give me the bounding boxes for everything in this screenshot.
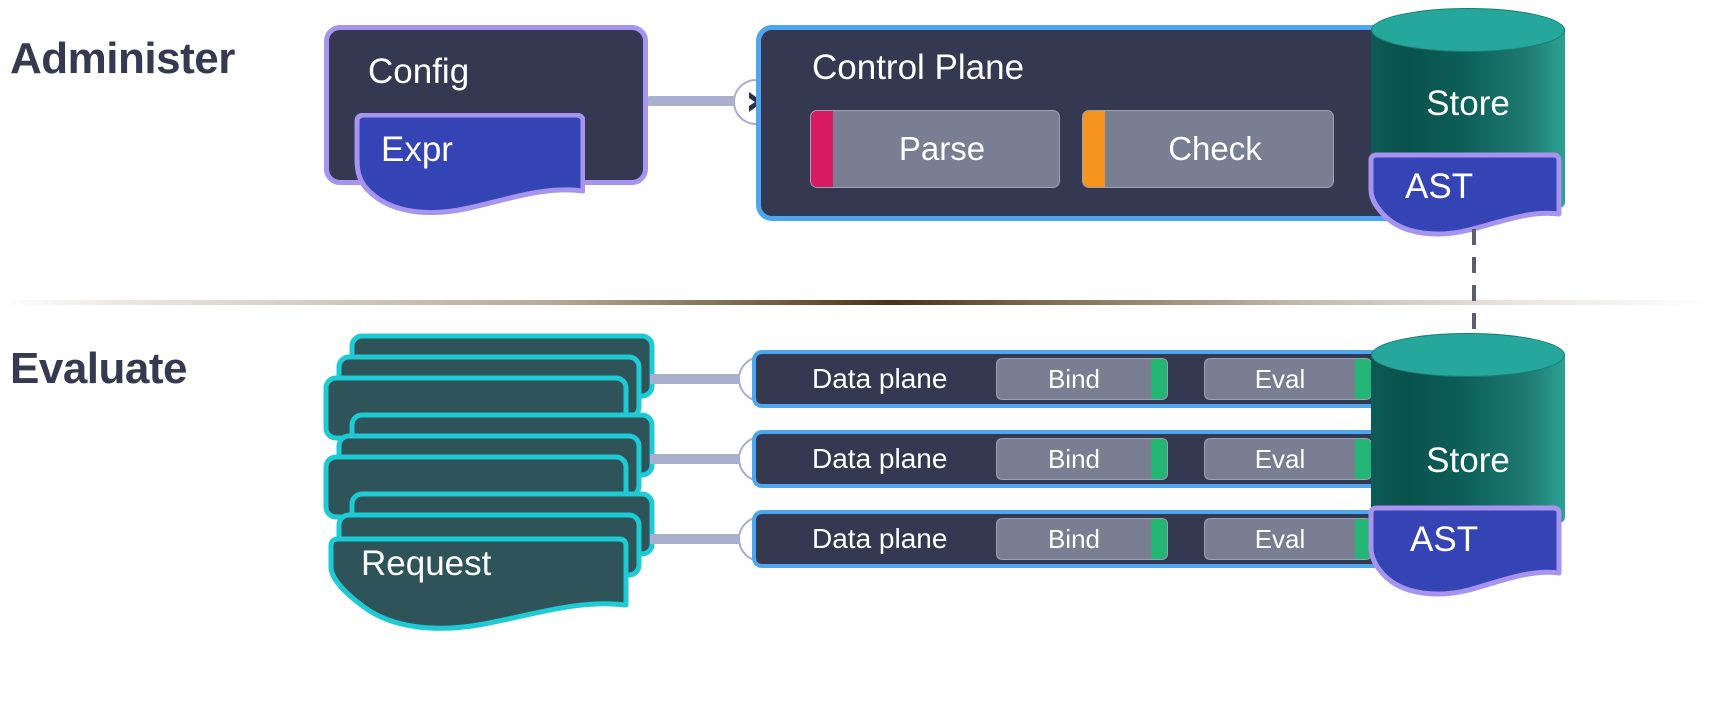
- section-label-administer: Administer: [10, 34, 235, 84]
- bind-accent-bar: [1151, 439, 1167, 479]
- eval-label: Eval: [1255, 364, 1322, 395]
- stage-pill-eval-2[interactable]: Eval: [1204, 438, 1372, 480]
- connector-request-to-data-plane-1: [650, 374, 748, 384]
- eval-accent-bar: [1355, 359, 1371, 399]
- diagram-canvas: Administer Evaluate Config Expr Control …: [0, 0, 1714, 705]
- expr-document-shape: [349, 113, 585, 215]
- cylinder-top-ellipse: [1371, 8, 1565, 52]
- request-card-front: [331, 539, 626, 628]
- eval-label: Eval: [1255, 524, 1322, 555]
- connector-config-to-control-plane: [648, 96, 738, 106]
- check-accent-bar: [1083, 111, 1105, 187]
- data-plane-title-2: Data plane: [812, 443, 947, 475]
- store-cylinder-evaluate: Store: [1371, 333, 1565, 523]
- eval-accent-bar: [1355, 439, 1371, 479]
- check-label: Check: [1154, 130, 1262, 168]
- data-plane-title-1: Data plane: [812, 363, 947, 395]
- stage-pill-bind-2[interactable]: Bind: [996, 438, 1168, 480]
- store-label-evaluate: Store: [1371, 441, 1565, 481]
- ast-label-administer: AST: [1405, 167, 1473, 207]
- connector-request-to-data-plane-2: [650, 454, 748, 464]
- data-plane-row-2: Data plane Bind Eval: [752, 430, 1416, 488]
- eval-label: Eval: [1255, 444, 1322, 475]
- store-label-administer: Store: [1371, 84, 1565, 124]
- section-label-evaluate: Evaluate: [10, 344, 187, 394]
- stage-pill-eval-3[interactable]: Eval: [1204, 518, 1372, 560]
- config-title: Config: [368, 52, 469, 92]
- cylinder-body: [1371, 355, 1565, 523]
- parse-label: Parse: [885, 130, 985, 168]
- connector-request-to-data-plane-3: [650, 534, 748, 544]
- stage-pill-parse[interactable]: Parse: [810, 110, 1060, 188]
- cylinder-top-ellipse: [1371, 333, 1565, 377]
- request-stack[interactable]: [320, 333, 656, 633]
- section-divider: [0, 300, 1714, 305]
- bind-accent-bar: [1151, 359, 1167, 399]
- ast-label-evaluate: AST: [1410, 520, 1478, 560]
- control-plane-title: Control Plane: [812, 48, 1024, 88]
- bind-label: Bind: [1048, 444, 1116, 475]
- data-plane-title-3: Data plane: [812, 523, 947, 555]
- bind-label: Bind: [1048, 524, 1116, 555]
- data-plane-row-3: Data plane Bind Eval: [752, 510, 1416, 568]
- bind-accent-bar: [1151, 519, 1167, 559]
- parse-accent-bar: [811, 111, 833, 187]
- stage-pill-check[interactable]: Check: [1082, 110, 1334, 188]
- bind-label: Bind: [1048, 364, 1116, 395]
- data-plane-row-1: Data plane Bind Eval: [752, 350, 1416, 408]
- stage-pill-bind-1[interactable]: Bind: [996, 358, 1168, 400]
- ast-replication-link: [1472, 229, 1476, 341]
- stage-pill-eval-1[interactable]: Eval: [1204, 358, 1372, 400]
- stage-pill-bind-3[interactable]: Bind: [996, 518, 1168, 560]
